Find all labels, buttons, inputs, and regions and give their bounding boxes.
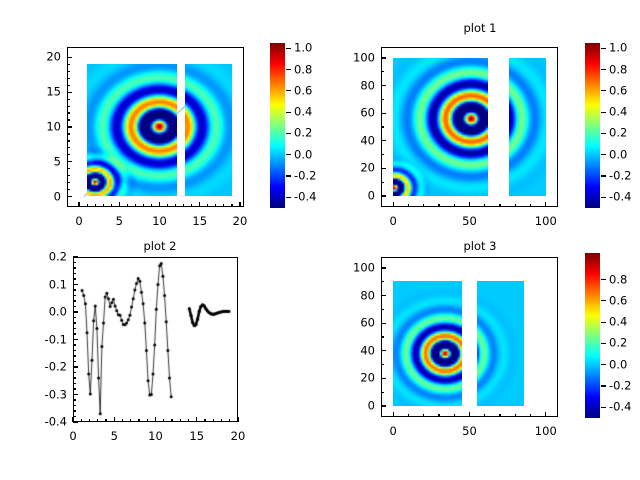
colorbar-tick-label: 0.4	[609, 107, 627, 118]
x-tick-label: 15	[189, 431, 204, 442]
x-tick-label: 5	[111, 431, 118, 442]
x-tick-mark	[239, 202, 240, 207]
colorbar-tick-label: 1.0	[294, 43, 312, 54]
x-minor-tick-mark	[175, 204, 176, 207]
colorbar-tick-mark	[601, 385, 606, 386]
colorbar-tick-mark	[601, 112, 606, 113]
colorbar-tick-label: -0.2	[294, 171, 316, 182]
x-tick-mark	[196, 417, 197, 422]
panel-title: plot 1	[320, 22, 640, 35]
x-minor-tick-mark	[95, 204, 96, 207]
colorbar-tick-label: -0.2	[609, 171, 631, 182]
colorbar	[585, 253, 600, 418]
y-tick-label: 60	[333, 108, 375, 119]
colorbar-tick-mark	[601, 48, 606, 49]
y-minor-tick-mark	[67, 99, 70, 100]
x-tick-label: 0	[75, 216, 82, 227]
colorbar-tick-label: 0.0	[294, 149, 312, 160]
colorbar-tick-label: -0.4	[609, 402, 631, 413]
x-minor-tick-mark	[163, 419, 164, 422]
x-tick-mark	[159, 202, 160, 207]
y-tick-label: 20	[333, 163, 375, 174]
y-minor-tick-mark	[73, 262, 76, 263]
x-minor-tick-mark	[423, 204, 424, 207]
x-minor-tick-mark	[87, 204, 88, 207]
y-minor-tick-mark	[381, 99, 384, 100]
y-minor-tick-mark	[67, 106, 70, 107]
x-minor-tick-mark	[215, 204, 216, 207]
y-tick-mark	[381, 113, 386, 114]
colorbar-tick-mark	[601, 175, 606, 176]
y-tick-mark	[381, 168, 386, 169]
y-minor-tick-mark	[67, 182, 70, 183]
x-tick-mark	[469, 412, 470, 417]
y-tick-label: 60	[333, 318, 375, 329]
y-minor-tick-mark	[73, 273, 76, 274]
colorbar-tick-label: -0.4	[294, 192, 316, 203]
x-minor-tick-mark	[530, 414, 531, 417]
image-block-right	[509, 58, 546, 196]
y-tick-mark	[381, 195, 386, 196]
colorbar-tick-label: 0.8	[294, 64, 312, 75]
y-minor-tick-mark	[67, 133, 70, 134]
y-minor-tick-mark	[73, 289, 76, 290]
panel-bottom-left: plot 2 0.20.10.0-0.1-0.2-0.3-0.405101520	[0, 240, 320, 480]
y-tick-mark	[381, 140, 386, 141]
y-tick-mark	[73, 394, 78, 395]
colorbar-tick-mark	[286, 175, 291, 176]
y-tick-label: 0.2	[25, 252, 67, 263]
y-tick-mark	[381, 350, 386, 351]
y-minor-tick-mark	[381, 364, 384, 365]
y-tick-mark	[73, 421, 78, 422]
x-tick-label: 50	[462, 216, 477, 227]
y-tick-label: 40	[333, 135, 375, 146]
panel-bottom-right: plot 3 0204060801000501000.80.60.40.20.0…	[320, 240, 640, 480]
y-tick-label: 40	[333, 345, 375, 356]
x-minor-tick-mark	[180, 419, 181, 422]
x-tick-label: 100	[535, 216, 557, 227]
x-minor-tick-mark	[438, 204, 439, 207]
x-minor-tick-mark	[423, 414, 424, 417]
y-tick-label: 100	[333, 53, 375, 64]
y-tick-label: 0.0	[25, 307, 67, 318]
x-minor-tick-mark	[167, 204, 168, 207]
y-tick-label: 0	[333, 400, 375, 411]
colorbar-tick-mark	[286, 48, 291, 49]
y-minor-tick-mark	[73, 361, 76, 362]
y-minor-tick-mark	[381, 309, 384, 310]
x-tick-mark	[545, 412, 546, 417]
x-minor-tick-mark	[151, 204, 152, 207]
x-minor-tick-mark	[207, 204, 208, 207]
y-minor-tick-mark	[381, 126, 384, 127]
y-minor-tick-mark	[381, 71, 384, 72]
y-tick-mark	[73, 284, 78, 285]
y-minor-tick-mark	[67, 175, 70, 176]
x-tick-mark	[393, 202, 394, 207]
colorbar-tick-mark	[286, 112, 291, 113]
colorbar-tick-label: 0.6	[609, 295, 627, 306]
image-block-left	[87, 64, 177, 196]
image-block-left	[393, 281, 462, 406]
y-tick-mark	[381, 405, 386, 406]
y-minor-tick-mark	[67, 71, 70, 72]
x-tick-mark	[545, 202, 546, 207]
x-minor-tick-mark	[530, 204, 531, 207]
colorbar-tick-mark	[601, 279, 606, 280]
y-tick-label: 20	[333, 373, 375, 384]
x-minor-tick-mark	[229, 419, 230, 422]
y-minor-tick-mark	[73, 410, 76, 411]
y-minor-tick-mark	[73, 278, 76, 279]
x-tick-label: 15	[192, 216, 207, 227]
y-minor-tick-mark	[73, 350, 76, 351]
x-minor-tick-mark	[171, 419, 172, 422]
x-tick-mark	[78, 202, 79, 207]
x-minor-tick-mark	[103, 204, 104, 207]
y-tick-mark	[381, 85, 386, 86]
y-minor-tick-mark	[67, 147, 70, 148]
x-minor-tick-mark	[484, 204, 485, 207]
y-minor-tick-mark	[73, 377, 76, 378]
colorbar-tick-mark	[286, 197, 291, 198]
x-minor-tick-mark	[191, 204, 192, 207]
colorbar-tick-mark	[286, 90, 291, 91]
x-minor-tick-mark	[499, 204, 500, 207]
colorbar-tick-mark	[601, 69, 606, 70]
y-tick-mark	[67, 57, 72, 58]
colorbar-tick-label: -0.4	[609, 192, 631, 203]
colorbar-tick-mark	[286, 154, 291, 155]
colorbar-tick-mark	[601, 90, 606, 91]
x-minor-tick-mark	[515, 414, 516, 417]
y-minor-tick-mark	[67, 140, 70, 141]
colorbar-tick-mark	[601, 300, 606, 301]
x-tick-label: 50	[462, 426, 477, 437]
x-tick-mark	[469, 202, 470, 207]
y-minor-tick-mark	[381, 392, 384, 393]
y-minor-tick-mark	[67, 64, 70, 65]
x-minor-tick-mark	[188, 419, 189, 422]
x-minor-tick-mark	[127, 204, 128, 207]
y-tick-mark	[381, 57, 386, 58]
y-tick-label: 0.1	[25, 279, 67, 290]
colorbar-tick-label: 0.0	[609, 149, 627, 160]
x-tick-label: 5	[116, 216, 123, 227]
y-minor-tick-mark	[381, 182, 384, 183]
colorbar-tick-label: 1.0	[609, 43, 627, 54]
y-minor-tick-mark	[73, 355, 76, 356]
y-tick-label: -0.4	[25, 417, 67, 428]
y-minor-tick-mark	[67, 189, 70, 190]
y-tick-label: 5	[19, 156, 61, 167]
y-tick-label: 15	[19, 87, 61, 98]
colorbar-tick-mark	[601, 343, 606, 344]
x-minor-tick-mark	[454, 414, 455, 417]
line-series-canvas	[73, 257, 238, 422]
colorbar-tick-mark	[601, 322, 606, 323]
y-minor-tick-mark	[73, 267, 76, 268]
colorbar-tick-label: 0.8	[609, 274, 627, 285]
y-minor-tick-mark	[67, 168, 70, 169]
colorbar-tick-label: 0.2	[609, 338, 627, 349]
x-tick-label: 20	[231, 431, 246, 442]
x-minor-tick-mark	[221, 419, 222, 422]
colorbar-tick-mark	[286, 133, 291, 134]
image-block-right	[185, 64, 232, 196]
y-minor-tick-mark	[73, 300, 76, 301]
y-minor-tick-mark	[73, 328, 76, 329]
x-minor-tick-mark	[454, 204, 455, 207]
colorbar-tick-label: 0.0	[609, 359, 627, 370]
x-tick-label: 0	[390, 216, 397, 227]
x-minor-tick-mark	[81, 419, 82, 422]
colorbar-tick-label: 0.8	[609, 64, 627, 75]
colorbar	[270, 43, 285, 208]
colorbar-tick-mark	[601, 364, 606, 365]
x-minor-tick-mark	[438, 414, 439, 417]
x-minor-tick-mark	[213, 419, 214, 422]
x-tick-mark	[155, 417, 156, 422]
colorbar-tick-mark	[286, 69, 291, 70]
y-tick-mark	[381, 295, 386, 296]
x-minor-tick-mark	[143, 204, 144, 207]
x-minor-tick-mark	[204, 419, 205, 422]
x-minor-tick-mark	[231, 204, 232, 207]
colorbar-tick-label: 0.6	[294, 85, 312, 96]
x-minor-tick-mark	[138, 419, 139, 422]
y-tick-mark	[73, 256, 78, 257]
colorbar-tick-label: 0.2	[609, 128, 627, 139]
y-tick-mark	[73, 366, 78, 367]
y-minor-tick-mark	[73, 322, 76, 323]
x-minor-tick-mark	[130, 419, 131, 422]
panel-top-right: plot 1 0204060801000501001.00.80.60.40.2…	[320, 0, 640, 240]
x-minor-tick-mark	[223, 204, 224, 207]
x-tick-mark	[237, 417, 238, 422]
y-minor-tick-mark	[381, 281, 384, 282]
y-minor-tick-mark	[67, 78, 70, 79]
x-tick-mark	[393, 412, 394, 417]
y-tick-label: 0	[19, 191, 61, 202]
y-tick-mark	[67, 161, 72, 162]
x-tick-mark	[119, 202, 120, 207]
x-tick-label: 0	[390, 426, 397, 437]
x-minor-tick-mark	[89, 419, 90, 422]
x-minor-tick-mark	[183, 204, 184, 207]
y-minor-tick-mark	[73, 372, 76, 373]
y-minor-tick-mark	[73, 295, 76, 296]
image-block-right	[477, 281, 524, 406]
x-minor-tick-mark	[515, 204, 516, 207]
colorbar-tick-mark	[601, 133, 606, 134]
colorbar-tick-mark	[601, 197, 606, 198]
panel-title: plot 3	[320, 240, 640, 253]
y-minor-tick-mark	[73, 405, 76, 406]
x-minor-tick-mark	[111, 204, 112, 207]
y-minor-tick-mark	[73, 333, 76, 334]
y-tick-mark	[381, 267, 386, 268]
x-minor-tick-mark	[484, 414, 485, 417]
x-minor-tick-mark	[408, 204, 409, 207]
y-tick-mark	[381, 378, 386, 379]
y-tick-label: 80	[333, 80, 375, 91]
x-minor-tick-mark	[122, 419, 123, 422]
y-minor-tick-mark	[73, 306, 76, 307]
y-minor-tick-mark	[67, 154, 70, 155]
y-tick-label: -0.2	[25, 362, 67, 373]
y-tick-mark	[381, 323, 386, 324]
y-minor-tick-mark	[73, 344, 76, 345]
x-tick-label: 0	[69, 431, 76, 442]
y-tick-mark	[73, 311, 78, 312]
colorbar	[585, 43, 600, 208]
y-tick-label: -0.3	[25, 389, 67, 400]
y-tick-label: 10	[19, 122, 61, 133]
y-tick-mark	[73, 339, 78, 340]
figure-canvas: 05101520051015201.00.80.60.40.20.0-0.2-0…	[0, 0, 640, 480]
y-minor-tick-mark	[73, 317, 76, 318]
y-tick-mark	[67, 92, 72, 93]
x-minor-tick-mark	[499, 414, 500, 417]
colorbar-tick-label: 0.4	[294, 107, 312, 118]
colorbar-tick-mark	[601, 407, 606, 408]
y-tick-label: 100	[333, 263, 375, 274]
y-tick-label: 80	[333, 290, 375, 301]
y-tick-label: -0.1	[25, 334, 67, 345]
y-minor-tick-mark	[73, 388, 76, 389]
x-tick-label: 100	[535, 426, 557, 437]
y-tick-label: 0	[333, 190, 375, 201]
colorbar-tick-label: 0.6	[609, 85, 627, 96]
x-minor-tick-mark	[135, 204, 136, 207]
colorbar-tick-label: 0.2	[294, 128, 312, 139]
x-tick-mark	[199, 202, 200, 207]
y-minor-tick-mark	[67, 119, 70, 120]
x-minor-tick-mark	[147, 419, 148, 422]
x-tick-label: 20	[233, 216, 248, 227]
colorbar-tick-label: 0.4	[609, 317, 627, 328]
y-tick-label: 20	[19, 52, 61, 63]
colorbar-tick-mark	[601, 154, 606, 155]
y-minor-tick-mark	[381, 154, 384, 155]
y-minor-tick-mark	[67, 112, 70, 113]
x-tick-label: 10	[148, 431, 163, 442]
x-tick-mark	[72, 417, 73, 422]
x-tick-mark	[114, 417, 115, 422]
colorbar-tick-label: -0.2	[609, 381, 631, 392]
panel-top-left: 05101520051015201.00.80.60.40.20.0-0.2-0…	[0, 0, 320, 240]
y-tick-mark	[67, 196, 72, 197]
x-tick-label: 10	[152, 216, 167, 227]
y-minor-tick-mark	[67, 85, 70, 86]
y-minor-tick-mark	[73, 399, 76, 400]
image-block-left	[393, 58, 488, 196]
x-minor-tick-mark	[105, 419, 106, 422]
x-minor-tick-mark	[97, 419, 98, 422]
x-minor-tick-mark	[408, 414, 409, 417]
y-minor-tick-mark	[381, 336, 384, 337]
y-minor-tick-mark	[73, 383, 76, 384]
y-tick-mark	[67, 126, 72, 127]
